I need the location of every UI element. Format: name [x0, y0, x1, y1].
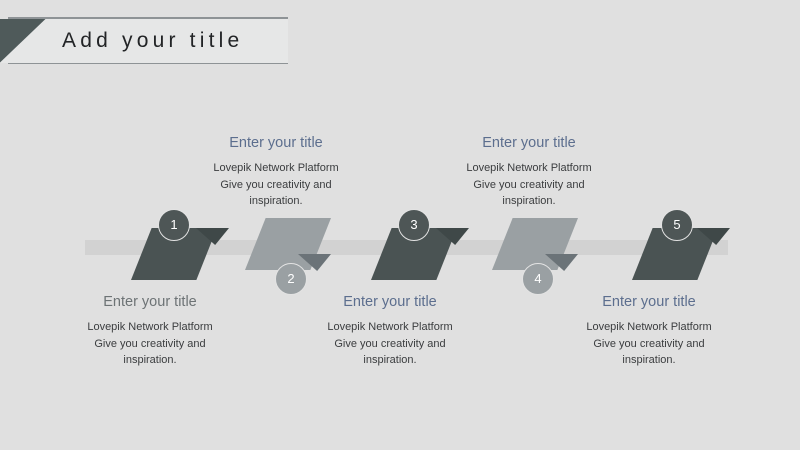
- title-rule-bottom: [8, 63, 288, 65]
- step-badge-3[interactable]: 3: [398, 209, 430, 241]
- step-body-5-line-3: inspiration.: [518, 352, 780, 369]
- step-badge-4[interactable]: 4: [522, 263, 554, 295]
- step-body-2-line-3: inspiration.: [145, 193, 407, 210]
- step-body-3: Lovepik Network Platform Give you creati…: [259, 319, 521, 369]
- step-text-group-5: Enter your title Lovepik Network Platfor…: [518, 294, 780, 369]
- step-body-4-line-3: inspiration.: [398, 193, 660, 210]
- step-body-4: Lovepik Network Platform Give you creati…: [398, 160, 660, 210]
- step-text-group-4: Enter your title Lovepik Network Platfor…: [398, 135, 660, 210]
- step-badge-1[interactable]: 1: [158, 209, 190, 241]
- step-badge-2[interactable]: 2: [275, 263, 307, 295]
- step-body-3-line-2: Give you creativity and: [259, 336, 521, 353]
- step-body-3-line-1: Lovepik Network Platform: [259, 319, 521, 336]
- step-body-1-line-3: inspiration.: [19, 352, 281, 369]
- step-body-1-line-1: Lovepik Network Platform: [19, 319, 281, 336]
- step-body-4-line-2: Give you creativity and: [398, 177, 660, 194]
- step-body-5-line-1: Lovepik Network Platform: [518, 319, 780, 336]
- step-body-1-line-2: Give you creativity and: [19, 336, 281, 353]
- step-body-3-line-3: inspiration.: [259, 352, 521, 369]
- slide-title-block: Add your title: [0, 17, 288, 64]
- step-body-2: Lovepik Network Platform Give you creati…: [145, 160, 407, 210]
- step-body-2-line-2: Give you creativity and: [145, 177, 407, 194]
- step-title-3: Enter your title: [259, 294, 521, 310]
- step-title-2: Enter your title: [145, 135, 407, 151]
- slide-canvas: Add your title 1 Enter your title Lovepi…: [0, 0, 800, 450]
- step-text-group-3: Enter your title Lovepik Network Platfor…: [259, 294, 521, 369]
- step-body-4-line-1: Lovepik Network Platform: [398, 160, 660, 177]
- step-text-group-2: Enter your title Lovepik Network Platfor…: [145, 135, 407, 210]
- step-title-1: Enter your title: [19, 294, 281, 310]
- step-text-group-1: Enter your title Lovepik Network Platfor…: [19, 294, 281, 369]
- step-title-4: Enter your title: [398, 135, 660, 151]
- step-body-5-line-2: Give you creativity and: [518, 336, 780, 353]
- step-body-1: Lovepik Network Platform Give you creati…: [19, 319, 281, 369]
- step-body-2-line-1: Lovepik Network Platform: [145, 160, 407, 177]
- step-badge-5[interactable]: 5: [661, 209, 693, 241]
- page-title: Add your title: [62, 19, 243, 63]
- step-title-5: Enter your title: [518, 294, 780, 310]
- step-body-5: Lovepik Network Platform Give you creati…: [518, 319, 780, 369]
